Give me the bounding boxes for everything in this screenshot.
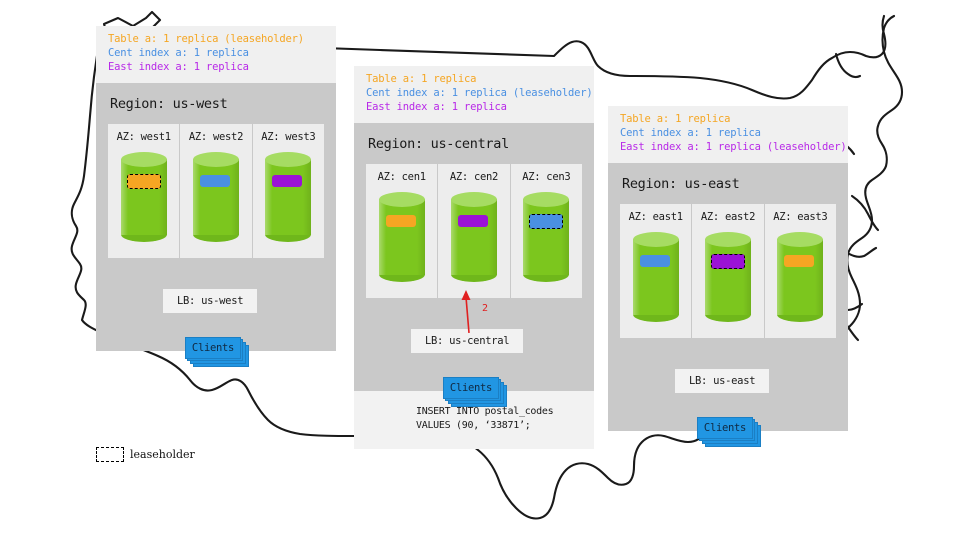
diagram-canvas: Table a: 1 replica (leaseholder) Cent in… (0, 0, 960, 540)
load-balancer-us-west[interactable]: LB: us-west (163, 289, 257, 313)
node-cylinder-east2[interactable] (705, 232, 751, 322)
sql-statement: INSERT INTO postal_codes VALUES (90, ‘33… (416, 405, 553, 434)
az-cell-east1[interactable]: AZ: east1 (620, 204, 692, 338)
node-cylinder-east1[interactable] (633, 232, 679, 322)
legend-line-cent-index: Cent index a: 1 replica (620, 127, 836, 141)
legend-line-cent-index: Cent index a: 1 replica (leaseholder) (366, 87, 582, 101)
az-label: AZ: cen2 (442, 171, 505, 183)
clients-us-west[interactable]: Clients (185, 337, 249, 367)
az-cell-cen1[interactable]: AZ: cen1 (366, 164, 438, 298)
clients-label[interactable]: Clients (443, 377, 499, 399)
az-row-us-central: AZ: cen1 AZ: cen2 (366, 164, 582, 298)
region-legend-us-west: Table a: 1 replica (leaseholder) Cent in… (96, 26, 336, 83)
region-legend-us-central: Table a: 1 replica Cent index a: 1 repli… (354, 66, 594, 123)
node-cylinder-cen3[interactable] (523, 192, 569, 282)
legend-line-east-index: East index a: 1 replica (108, 61, 324, 75)
node-cylinder-west3[interactable] (265, 152, 311, 242)
region-body-us-west: Region: us-west AZ: west1 AZ: west2 (96, 83, 336, 351)
az-label: AZ: east2 (696, 211, 759, 223)
clients-us-east[interactable]: Clients (697, 417, 761, 447)
arrow-step-label: 2 (482, 303, 488, 314)
az-row-us-east: AZ: east1 AZ: east2 (620, 204, 836, 338)
az-cell-west1[interactable]: AZ: west1 (108, 124, 180, 258)
legend-line-table-a: Table a: 1 replica (leaseholder) (108, 33, 324, 47)
az-cell-cen2[interactable]: AZ: cen2 (438, 164, 510, 298)
replica-block-cent-index (529, 214, 563, 229)
node-cylinder-west1[interactable] (121, 152, 167, 242)
replica-block-east-index (458, 215, 488, 227)
region-title: Region: us-central (368, 136, 582, 152)
az-label: AZ: cen1 (370, 171, 433, 183)
dashed-box-icon (96, 447, 124, 462)
region-card-us-east: Table a: 1 replica Cent index a: 1 repli… (608, 106, 848, 431)
replica-block-cent-index (640, 255, 670, 267)
clients-label[interactable]: Clients (185, 337, 241, 359)
region-card-us-central: Table a: 1 replica Cent index a: 1 repli… (354, 66, 594, 449)
replica-block-east-index (711, 254, 745, 269)
az-row-us-west: AZ: west1 AZ: west2 (108, 124, 324, 258)
node-cylinder-west2[interactable] (193, 152, 239, 242)
legend-line-table-a: Table a: 1 replica (366, 73, 582, 87)
node-cylinder-east3[interactable] (777, 232, 823, 322)
replica-block-table-a (784, 255, 814, 267)
replica-block-table-a (127, 174, 161, 189)
az-cell-cen3[interactable]: AZ: cen3 (511, 164, 582, 298)
clients-us-central[interactable]: Clients (443, 377, 507, 407)
az-label: AZ: west1 (112, 131, 175, 143)
node-cylinder-cen2[interactable] (451, 192, 497, 282)
legend-line-east-index: East index a: 1 replica (leaseholder) (620, 141, 836, 155)
node-cylinder-cen1[interactable] (379, 192, 425, 282)
az-label: AZ: cen3 (515, 171, 578, 183)
az-cell-west3[interactable]: AZ: west3 (253, 124, 324, 258)
leaseholder-legend: leaseholder (96, 447, 195, 462)
az-label: AZ: east3 (769, 211, 832, 223)
az-cell-east3[interactable]: AZ: east3 (765, 204, 836, 338)
load-balancer-us-east[interactable]: LB: us-east (675, 369, 769, 393)
region-legend-us-east: Table a: 1 replica Cent index a: 1 repli… (608, 106, 848, 163)
region-card-us-west: Table a: 1 replica (leaseholder) Cent in… (96, 26, 336, 351)
region-body-us-east: Region: us-east AZ: east1 AZ: east2 (608, 163, 848, 431)
legend-line-table-a: Table a: 1 replica (620, 113, 836, 127)
az-cell-west2[interactable]: AZ: west2 (180, 124, 252, 258)
leaseholder-legend-label: leaseholder (130, 448, 195, 461)
az-label: AZ: west2 (184, 131, 247, 143)
region-title: Region: us-east (622, 176, 836, 192)
region-body-us-central: Region: us-central AZ: cen1 AZ: cen2 (354, 123, 594, 391)
legend-line-east-index: East index a: 1 replica (366, 101, 582, 115)
legend-line-cent-index: Cent index a: 1 replica (108, 47, 324, 61)
az-label: AZ: east1 (624, 211, 687, 223)
replica-block-cent-index (200, 175, 230, 187)
az-cell-east2[interactable]: AZ: east2 (692, 204, 764, 338)
region-title: Region: us-west (110, 96, 324, 112)
replica-block-table-a (386, 215, 416, 227)
clients-label[interactable]: Clients (697, 417, 753, 439)
az-label: AZ: west3 (257, 131, 320, 143)
replica-block-east-index (272, 175, 302, 187)
